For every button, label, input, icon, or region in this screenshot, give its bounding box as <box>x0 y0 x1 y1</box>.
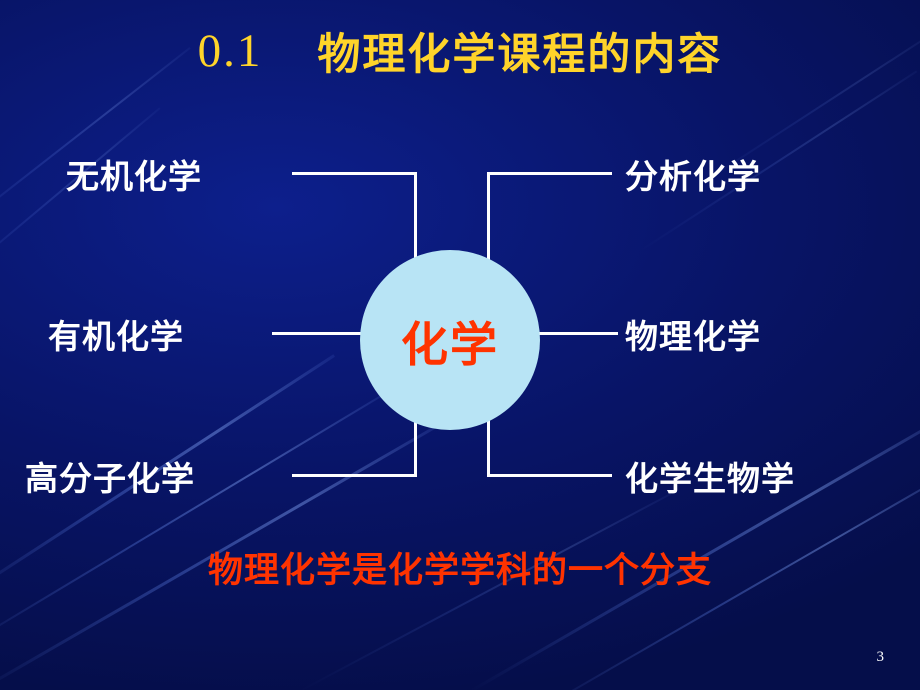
title-number: 0.1 <box>198 25 263 77</box>
background-streak <box>0 392 386 662</box>
center-node-circle: 化学 <box>360 250 540 430</box>
node-left-1: 无机化学 <box>66 150 202 198</box>
node-right-3: 化学生物学 <box>625 452 795 500</box>
slide-canvas: 0.1 物理化学课程的内容 无机化学 有机化学 高分子化学 分析化学 物理化学 … <box>0 0 920 690</box>
background-streak <box>0 107 160 301</box>
connector-right-2-horizontal <box>528 332 618 335</box>
node-left-3: 高分子化学 <box>25 452 195 500</box>
connector-right-1-vertical <box>487 172 490 272</box>
connector-right-3-horizontal <box>487 474 612 477</box>
center-node-label: 化学 <box>401 306 499 375</box>
connector-right-1-horizontal <box>487 172 612 175</box>
node-left-2: 有机化学 <box>48 310 184 358</box>
page-number: 3 <box>877 649 885 666</box>
title-text: 物理化学课程的内容 <box>317 30 722 80</box>
connector-left-3-horizontal <box>292 474 417 477</box>
footnote-text: 物理化学是化学学科的一个分支 <box>0 542 920 593</box>
connector-left-1-horizontal <box>292 172 417 175</box>
node-right-1: 分析化学 <box>625 150 761 198</box>
slide-title: 0.1 物理化学课程的内容 <box>0 20 920 82</box>
node-right-2: 物理化学 <box>625 310 761 358</box>
